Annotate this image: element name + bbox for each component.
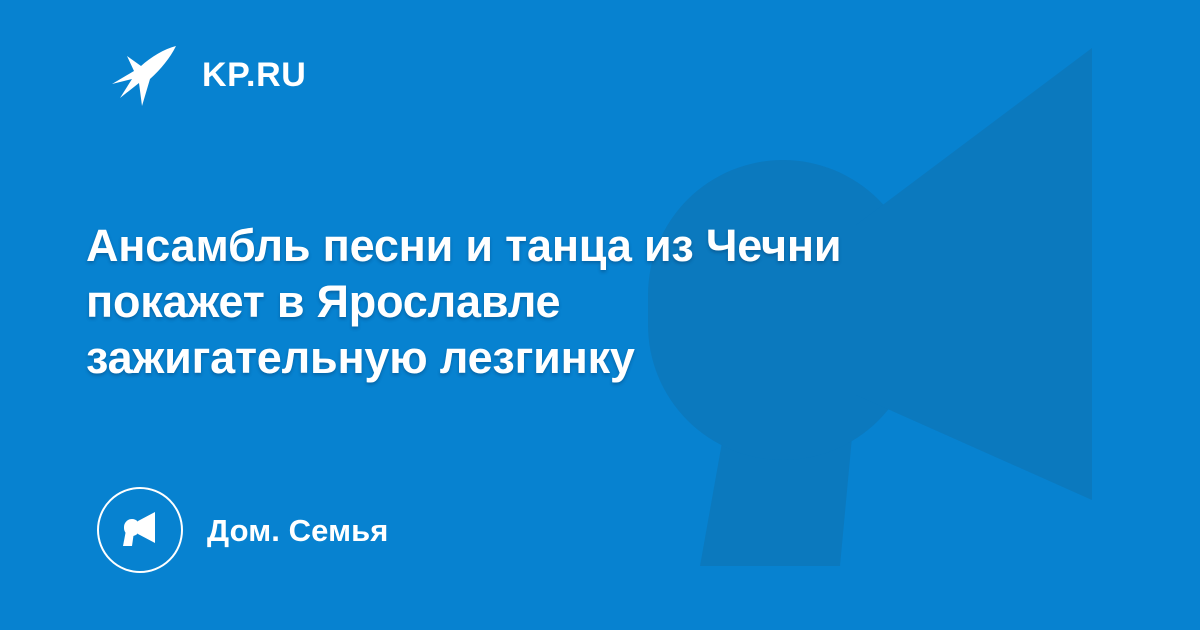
headline-line-3: зажигательную лезгинку <box>86 330 1096 386</box>
category-label: Дом. Семья <box>207 515 388 546</box>
brand-name: KP.RU <box>202 58 306 92</box>
headline-line-1: Ансамбль песни и танца из Чечни <box>86 218 1096 274</box>
swallow-bird-icon <box>106 38 180 112</box>
brand-logo[interactable]: KP.RU <box>106 36 306 114</box>
category-badge <box>97 487 183 573</box>
megaphone-icon <box>117 507 163 553</box>
social-share-card: KP.RU Ансамбль песни и танца из Чечни по… <box>0 0 1200 630</box>
category-tag[interactable]: Дом. Семья <box>97 487 388 573</box>
headline: Ансамбль песни и танца из Чечни покажет … <box>86 218 1096 386</box>
headline-line-2: покажет в Ярославле <box>86 274 1096 330</box>
